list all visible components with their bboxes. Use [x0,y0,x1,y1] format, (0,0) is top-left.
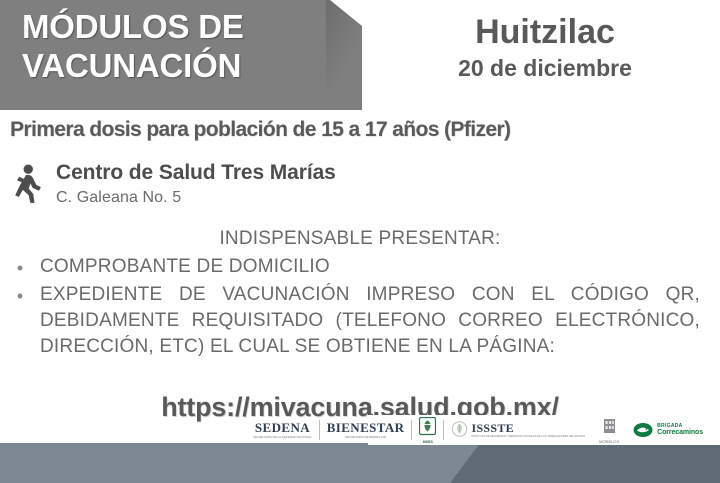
issste-emblem-icon [451,419,468,441]
roadrunner-icon [633,421,653,439]
page-title-line2: VACUNACIÓN [22,47,342,86]
issste-logo-subtext: INSTITUTO DE SEGURIDAD Y SERVICIOS SOCIA… [471,436,585,439]
requirements-heading: INDISPENSABLE PRESENTAR: [0,228,720,250]
requirement-text: COMPROBANTE DE DOMICILIO [40,254,708,280]
page-title-line1: MÓDULOS DE [22,8,342,47]
page-title: MÓDULOS DE VACUNACIÓN [22,8,342,86]
bienestar-logo: BIENESTAR SECRETARÍA DE BIENESTAR [320,416,412,444]
bullet-icon: • [0,282,40,309]
location-address: C. Galeana No. 5 [56,188,336,209]
requirement-text: EXPEDIENTE DE VACUNACIÓN IMPRESO CON EL … [40,282,708,360]
walking-person-icon [8,162,44,206]
imss-eagle-icon [419,417,436,439]
location-name: Centro de Salud Tres Marías [56,160,336,186]
requirements-list: • COMPROBANTE DE DOMICILIO • EXPEDIENTE … [0,254,720,361]
correcaminos-logo-text: Correcaminos [657,429,703,436]
list-item: • EXPEDIENTE DE VACUNACIÓN IMPRESO CON E… [0,282,720,360]
imss-logo: IMSS [412,416,443,444]
location-block: Centro de Salud Tres Marías C. Galeana N… [8,160,708,209]
bienestar-logo-text: BIENESTAR [327,421,405,434]
sedena-logo-text: SEDENA [255,421,310,434]
morelos-logo-text: MORELOS [599,440,619,444]
event-date: 20 de diciembre [380,55,710,83]
poster-header: MÓDULOS DE VACUNACIÓN Huitzilac 20 de di… [0,0,720,112]
bienestar-logo-subtext: SECRETARÍA DE BIENESTAR [345,436,386,439]
issste-logo: ISSSTE INSTITUTO DE SEGURIDAD Y SERVICIO… [444,416,592,444]
brigada-correcaminos-logo: BRIGADA Correcaminos [626,416,710,444]
city-name: Huitzilac [380,14,710,51]
footer-logo-bar: SEDENA SECRETARÍA DE LA DEFENSA NACIONAL… [246,415,716,445]
imss-logo-text: IMSS [423,440,433,444]
sedena-logo: SEDENA SECRETARÍA DE LA DEFENSA NACIONAL [246,416,318,444]
list-item: • COMPROBANTE DE DOMICILIO [0,254,720,281]
vaccination-poster: MÓDULOS DE VACUNACIÓN Huitzilac 20 de di… [0,0,720,483]
location-text: Centro de Salud Tres Marías C. Galeana N… [56,160,336,209]
bullet-icon: • [0,254,40,281]
dose-subtitle: Primera dosis para población de 15 a 17 … [10,118,716,142]
morelos-shield-icon [601,417,618,439]
issste-logo-text: ISSSTE [471,422,585,434]
sedena-logo-subtext: SECRETARÍA DE LA DEFENSA NACIONAL [253,436,311,439]
morelos-logo: MORELOS [592,416,626,444]
header-location-date: Huitzilac 20 de diciembre [380,14,710,83]
